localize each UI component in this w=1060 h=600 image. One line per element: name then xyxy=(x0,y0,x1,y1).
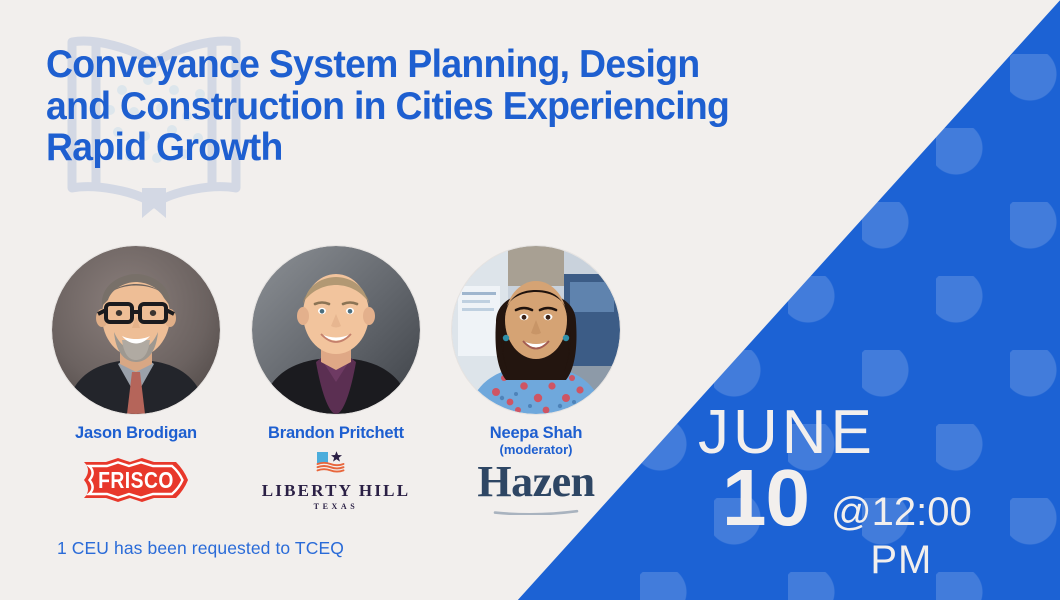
speaker-name: Neepa Shah xyxy=(436,424,636,442)
svg-text:FRISCO: FRISCO xyxy=(98,467,174,493)
org-logo-liberty-hill: LIBERTY HILL TEXAS xyxy=(236,449,436,511)
headshot-neepa-shah xyxy=(452,246,620,414)
headshot-jason-brodigan xyxy=(52,246,220,414)
event-day: 10 xyxy=(722,461,809,535)
frisco-logo: FRISCO xyxy=(76,456,196,504)
org-logo-frisco: FRISCO xyxy=(36,449,236,511)
speaker-role: (moderator) xyxy=(436,443,636,457)
avatar xyxy=(252,246,420,414)
event-flyer: Conveyance System Planning, Design and C… xyxy=(0,0,1060,600)
event-meridiem: PM xyxy=(831,539,972,581)
page-title: Conveyance System Planning, Design and C… xyxy=(46,44,900,169)
ceu-note: 1 CEU has been requested to TCEQ xyxy=(57,538,344,559)
event-date-block: JUNE 10 @12:00 PM xyxy=(690,404,1050,581)
speaker-card-jason-brodigan: Jason Brodigan FRISCO xyxy=(36,246,236,511)
speaker-name: Jason Brodigan xyxy=(36,424,236,442)
liberty-hill-state: TEXAS xyxy=(262,503,410,511)
liberty-hill-wordmark: LIBERTY HILL xyxy=(262,482,410,499)
hazen-wordmark: Hazen xyxy=(477,461,594,503)
speaker-name: Brandon Pritchett xyxy=(236,424,436,442)
hazen-swoosh-icon xyxy=(493,509,579,515)
event-time-block: @12:00 PM xyxy=(831,491,972,581)
avatar xyxy=(452,246,620,414)
headshot-brandon-pritchett xyxy=(252,246,420,414)
org-logo-hazen: Hazen xyxy=(436,459,636,521)
speaker-card-brandon-pritchett: Brandon Pritchett LIBERTY HILL TEXAS xyxy=(236,246,436,511)
liberty-hill-flag-icon xyxy=(315,450,357,474)
event-time: @12:00 xyxy=(831,491,972,533)
avatar xyxy=(52,246,220,414)
speaker-card-neepa-shah: Neepa Shah (moderator) Hazen xyxy=(436,246,636,521)
speakers-row: Jason Brodigan FRISCO xyxy=(0,246,660,546)
title-block: Conveyance System Planning, Design and C… xyxy=(46,44,926,169)
